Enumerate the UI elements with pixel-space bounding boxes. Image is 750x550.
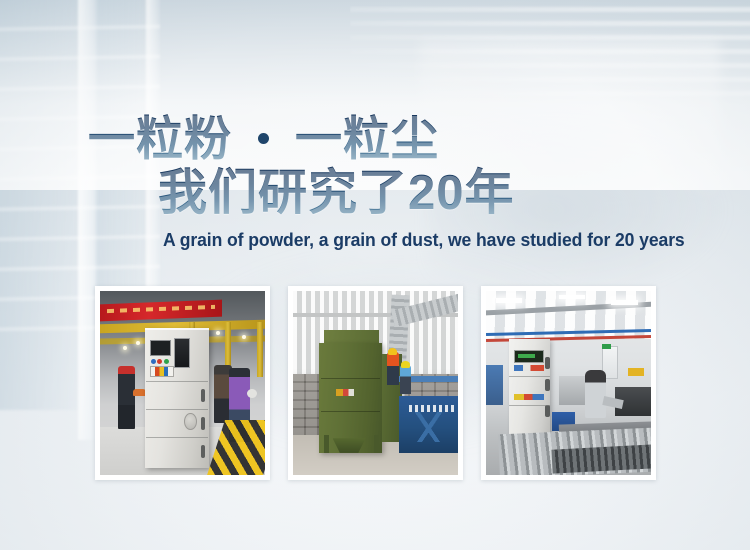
- photo-3-yellow-equipment: [628, 368, 645, 375]
- photo-gallery: [95, 286, 657, 480]
- headline-line-2: 我们研究了20年: [158, 166, 515, 220]
- background-column-thin: [146, 0, 160, 330]
- headline-line-1: 一粒粉一粒尘: [88, 113, 439, 165]
- photo-3-seam-1: [509, 376, 550, 377]
- photo-3-light-2: [559, 295, 585, 299]
- background-ceiling-beams: [350, 0, 750, 104]
- photo-3-light-3: [611, 300, 637, 304]
- photo-2-seam-1: [321, 378, 380, 379]
- photo-2-scissor-arms: [402, 412, 455, 441]
- photo-2-worker-blue: [400, 365, 411, 394]
- dot-separator-icon: [258, 133, 269, 144]
- background-column-left: [0, 0, 92, 410]
- photo-1-handle-2: [201, 417, 206, 430]
- photo-1-seam-2: [146, 409, 208, 410]
- photo-3-light-1: [496, 298, 522, 302]
- photo-frame-3[interactable]: [481, 286, 656, 480]
- photo-1-seam-3: [146, 437, 208, 438]
- photo-2: [293, 291, 458, 475]
- headline-line-1-part-b: 一粒尘: [295, 112, 439, 165]
- photo-3-handle-2: [545, 379, 550, 391]
- photo-1-button-red: [157, 359, 162, 364]
- photo-2-seam-2: [321, 411, 380, 412]
- headline-subtitle: A grain of powder, a grain of dust, we h…: [163, 229, 685, 251]
- photo-1-display-panel: [174, 338, 190, 368]
- photo-1-pillar-c: [257, 322, 263, 377]
- photo-1: [100, 291, 265, 475]
- photo-1-nameplate: [150, 366, 174, 378]
- photo-1-button-green: [164, 359, 169, 364]
- photo-3-machine: [559, 376, 589, 405]
- photo-2-nameplate: [336, 389, 354, 396]
- photo-3-nameplate: [514, 394, 544, 400]
- photo-1-handle-1: [201, 389, 206, 402]
- photo-3-handle-3: [545, 405, 550, 417]
- photo-1-seam-1: [146, 381, 208, 382]
- photo-3-exit-sign: [602, 344, 610, 348]
- photo-2-lift-label: [409, 405, 455, 412]
- photo-1-lamp-2: [136, 341, 140, 345]
- photo-2-leg-right: [374, 435, 379, 453]
- background-rungs: [0, 0, 160, 331]
- photo-1-worker-glove: [247, 389, 257, 398]
- promo-banner: 一粒粉一粒尘 我们研究了20年 A grain of powder, a gra…: [0, 0, 750, 550]
- photo-1-dust-collector: [145, 328, 209, 468]
- photo-1-worker-left: [118, 366, 135, 429]
- photo-1-handle-3: [201, 445, 206, 458]
- photo-1-control-panel: [150, 340, 171, 356]
- photo-1-button-blue: [151, 359, 156, 364]
- photo-2-worker-orange: [387, 352, 399, 385]
- photo-3-handle-1: [545, 357, 550, 369]
- photo-1-inspection-port: [184, 413, 197, 430]
- photo-3-button-row: [514, 365, 544, 371]
- photo-2-helmet-yellow-2: [401, 361, 410, 368]
- photo-frame-2[interactable]: [288, 286, 463, 480]
- headline-line-1-part-a: 一粒粉: [88, 112, 232, 165]
- photo-3: [486, 291, 651, 475]
- photo-3-display: [514, 350, 544, 363]
- photo-frame-1[interactable]: [95, 286, 270, 480]
- photo-2-leg-left: [324, 435, 329, 453]
- photo-2-helmet-yellow-1: [388, 348, 397, 355]
- photo-3-worker: [585, 370, 606, 418]
- photo-3-seam-2: [509, 405, 550, 406]
- photo-3-blue-rack: [486, 365, 503, 405]
